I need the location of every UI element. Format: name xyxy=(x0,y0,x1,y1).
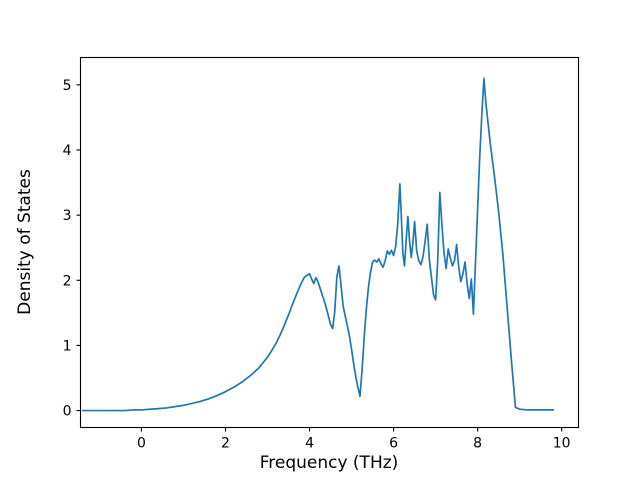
x-tick-label: 8 xyxy=(473,436,482,452)
x-tick-label: 0 xyxy=(137,436,146,452)
x-tick-label: 6 xyxy=(389,436,398,452)
x-tick-label: 10 xyxy=(553,436,571,452)
y-tick-label: 2 xyxy=(63,273,72,289)
y-tick-label: 0 xyxy=(63,404,72,420)
figure-canvas: 0246810 012345 Frequency (THz) Density o… xyxy=(0,0,640,480)
y-axis-label: Density of States xyxy=(15,169,35,315)
y-tick-label: 1 xyxy=(63,338,72,354)
phonon-dos-plot: 0246810 012345 Frequency (THz) Density o… xyxy=(0,0,640,480)
y-tick-label: 4 xyxy=(63,143,72,159)
plot-background xyxy=(0,0,640,480)
y-tick-label: 3 xyxy=(63,208,72,224)
x-tick-label: 2 xyxy=(221,436,230,452)
x-axis-label: Frequency (THz) xyxy=(260,453,399,473)
x-tick-label: 4 xyxy=(305,436,314,452)
y-tick-label: 5 xyxy=(63,78,72,94)
